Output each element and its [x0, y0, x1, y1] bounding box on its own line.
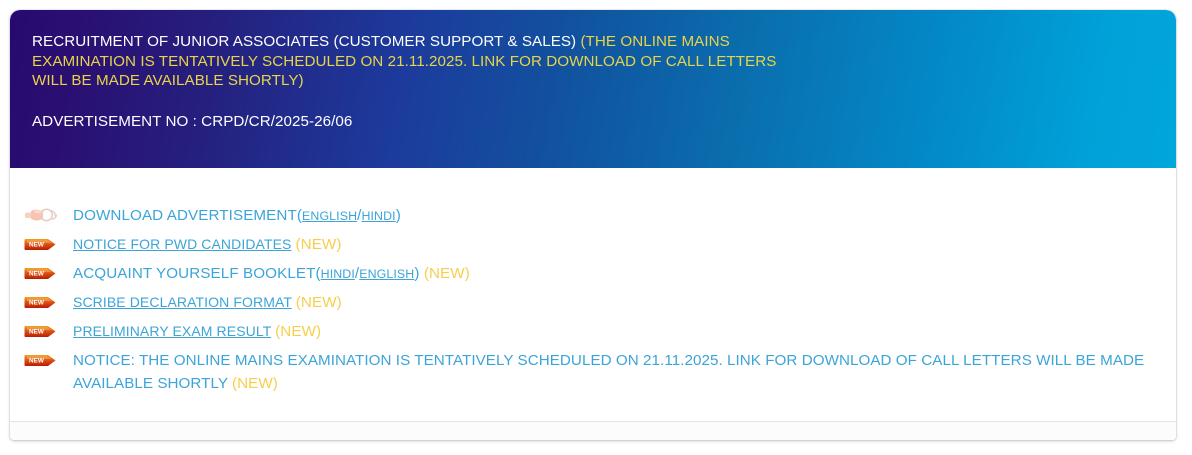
advertisement-number: ADVERTISEMENT NO : CRPD/CR/2025-26/06	[32, 112, 1150, 131]
scribe-declaration-link[interactable]: SCRIBE DECLARATION FORMAT	[73, 294, 292, 310]
advertisement-label: ADVERTISEMENT NO :	[32, 113, 201, 130]
close-paren: )	[414, 265, 419, 282]
links-body: DOWNLOAD ADVERTISEMENT(ENGLISH/HINDI)	[10, 168, 1176, 396]
list-item-label[interactable]: ACQUAINT YOURSELF BOOKLET(HINDI/ENGLISH)…	[73, 262, 470, 286]
new-tag: (NEW)	[232, 375, 278, 392]
acquaint-booklet-label: ACQUAINT YOURSELF BOOKLET	[73, 265, 315, 282]
link-hindi[interactable]: HINDI	[321, 267, 355, 281]
list-item-label[interactable]: PRELIMINARY EXAM RESULT (NEW)	[73, 320, 321, 343]
new-badge-icon: NEW	[24, 351, 58, 370]
link-hindi[interactable]: HINDI	[361, 209, 395, 223]
link-english[interactable]: ENGLISH	[302, 209, 357, 223]
new-tag: (NEW)	[424, 265, 470, 282]
close-paren: )	[396, 207, 401, 224]
page-title-white: RECRUITMENT OF JUNIOR ASSOCIATES (CUSTOM…	[32, 33, 576, 50]
list-item[interactable]: DOWNLOAD ADVERTISEMENT(ENGLISH/HINDI)	[10, 204, 1176, 232]
list-item-label[interactable]: NOTICE FOR PWD CANDIDATES (NEW)	[73, 233, 342, 256]
pointing-hand-icon	[24, 206, 58, 225]
svg-text:NEW: NEW	[29, 271, 45, 278]
svg-text:NEW: NEW	[29, 329, 45, 336]
notice-card: RECRUITMENT OF JUNIOR ASSOCIATES (CUSTOM…	[10, 10, 1176, 440]
new-badge-icon: NEW	[24, 264, 58, 283]
advertisement-value: CRPD/CR/2025-26/06	[201, 113, 352, 130]
hero-banner: RECRUITMENT OF JUNIOR ASSOCIATES (CUSTOM…	[10, 10, 1176, 168]
svg-text:NEW: NEW	[29, 300, 45, 307]
list-item[interactable]: NEW NOTICE: THE ONLINE MAINS EXAMINATION…	[10, 349, 1176, 395]
new-tag: (NEW)	[275, 323, 321, 340]
new-tag: (NEW)	[296, 294, 342, 311]
list-item-label[interactable]: DOWNLOAD ADVERTISEMENT(ENGLISH/HINDI)	[73, 204, 401, 228]
download-advertisement-label: DOWNLOAD ADVERTISEMENT	[73, 207, 297, 224]
notice-pwd-link[interactable]: NOTICE FOR PWD CANDIDATES	[73, 236, 291, 252]
page-title: RECRUITMENT OF JUNIOR ASSOCIATES (CUSTOM…	[32, 32, 792, 91]
list-item[interactable]: NEW ACQUAINT YOURSELF BOOKLET(HINDI/ENGL…	[10, 262, 1176, 290]
list-item[interactable]: NEW NOTICE FOR PWD CANDIDATES (NEW)	[10, 233, 1176, 261]
new-badge-icon: NEW	[24, 293, 58, 312]
svg-text:NEW: NEW	[29, 242, 45, 249]
link-english[interactable]: ENGLISH	[359, 267, 414, 281]
new-tag: (NEW)	[295, 236, 341, 253]
card-footer	[10, 422, 1176, 440]
preliminary-exam-result-link[interactable]: PRELIMINARY EXAM RESULT	[73, 323, 271, 339]
list-item[interactable]: NEW PRELIMINARY EXAM RESULT (NEW)	[10, 320, 1176, 348]
new-badge-icon: NEW	[24, 322, 58, 341]
page-root: RECRUITMENT OF JUNIOR ASSOCIATES (CUSTOM…	[0, 0, 1192, 455]
list-item[interactable]: NEW SCRIBE DECLARATION FORMAT (NEW)	[10, 291, 1176, 319]
new-badge-icon: NEW	[24, 235, 58, 254]
svg-text:NEW: NEW	[29, 358, 45, 365]
list-item-label[interactable]: SCRIBE DECLARATION FORMAT (NEW)	[73, 291, 342, 314]
list-item-label[interactable]: NOTICE: THE ONLINE MAINS EXAMINATION IS …	[73, 349, 1158, 395]
